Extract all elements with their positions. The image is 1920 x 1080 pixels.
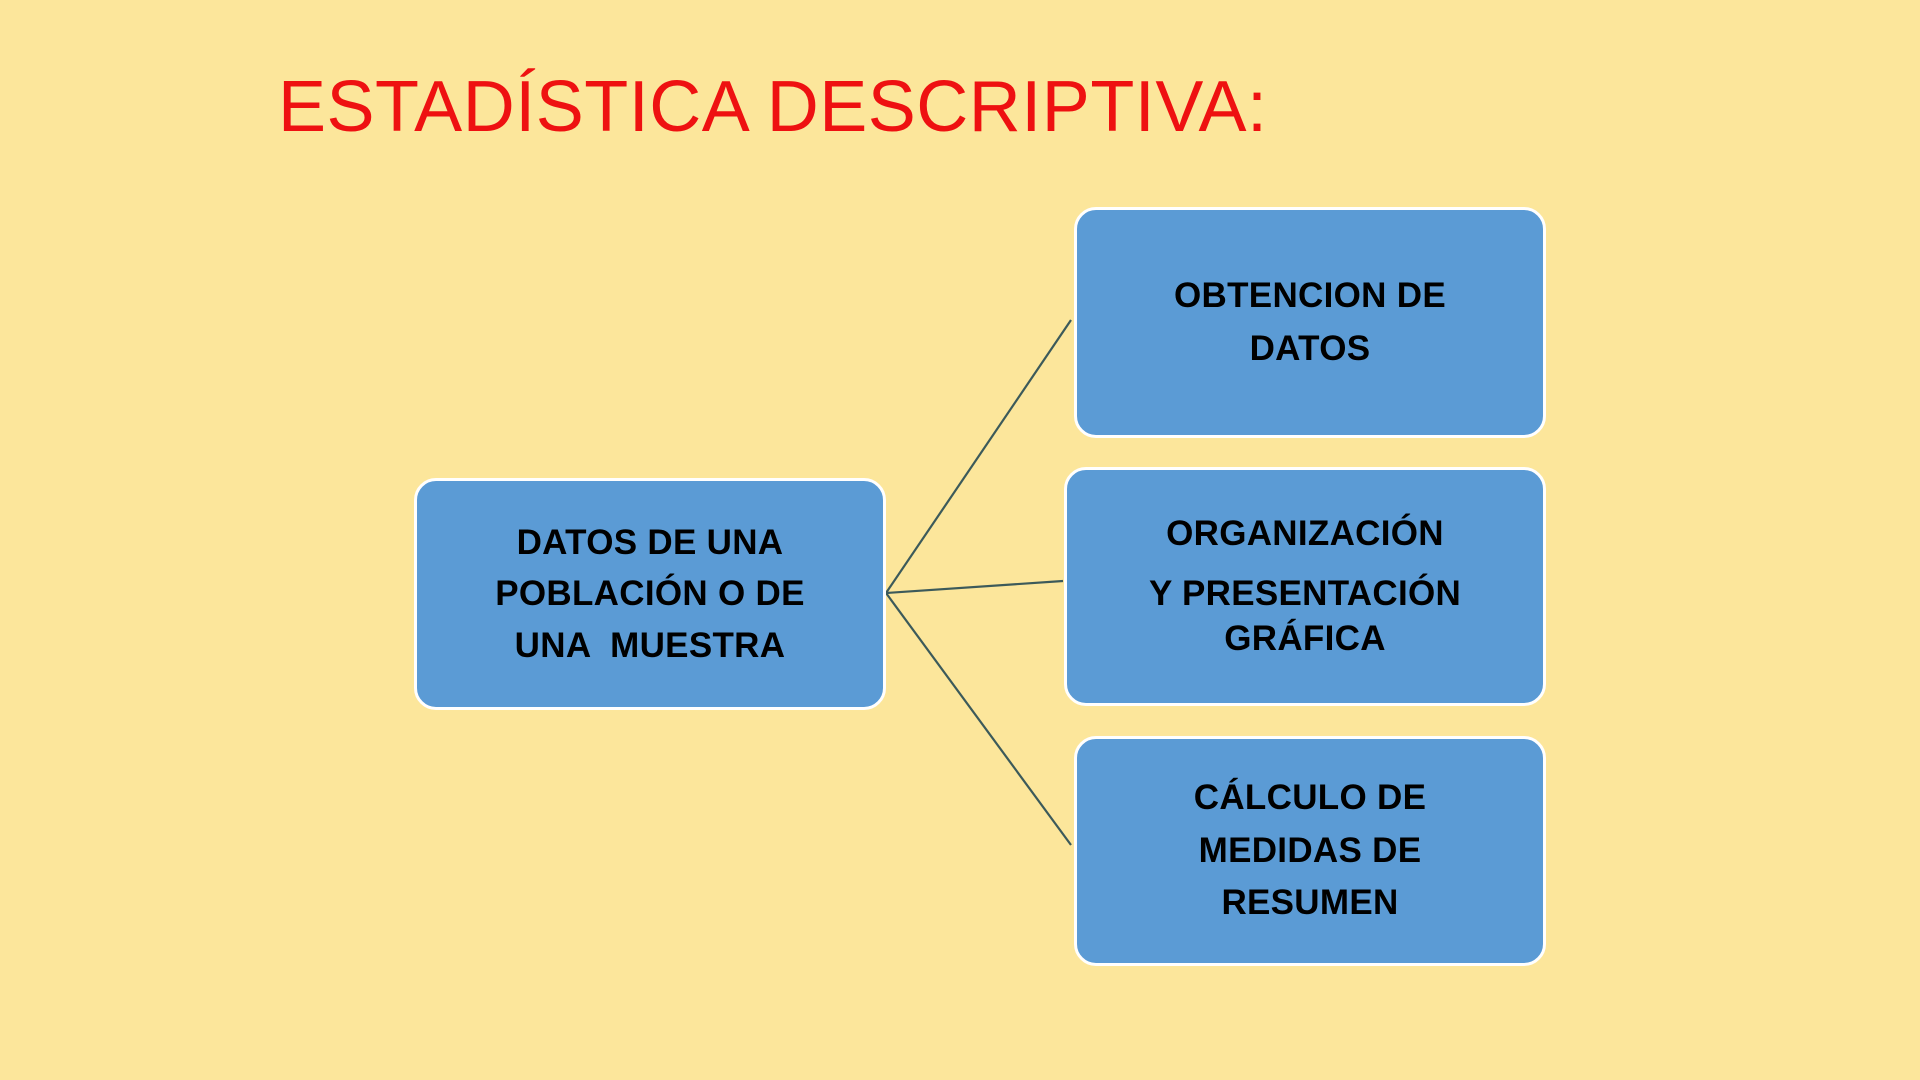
node-root-line-3: UNA MUESTRA bbox=[515, 620, 786, 671]
node-calculo-de-medidas-de-resumen[interactable]: CÁLCULO DE MEDIDAS DE RESUMEN bbox=[1074, 736, 1546, 966]
node-calculo-line-3: RESUMEN bbox=[1221, 877, 1398, 930]
node-root-line-1: DATOS DE UNA bbox=[517, 517, 784, 568]
node-calculo-line-2: MEDIDAS DE bbox=[1199, 825, 1422, 878]
page-title: ESTADÍSTICA DESCRIPTIVA: bbox=[278, 62, 1268, 152]
node-datos-de-una-poblacion-o-de-una-muestra[interactable]: DATOS DE UNA POBLACIÓN O DE UNA MUESTRA bbox=[414, 478, 886, 710]
connector-line-to-organizacion bbox=[886, 581, 1063, 593]
node-obtencion-de-datos[interactable]: OBTENCION DE DATOS bbox=[1074, 207, 1546, 438]
connector-line-to-obtencion bbox=[886, 320, 1071, 593]
node-calculo-line-1: CÁLCULO DE bbox=[1194, 772, 1426, 825]
connector-lines bbox=[0, 0, 1920, 1080]
slide-canvas: ESTADÍSTICA DESCRIPTIVA: DATOS DE UNA PO… bbox=[0, 0, 1920, 1080]
node-obtencion-line-1: OBTENCION DE bbox=[1174, 270, 1446, 323]
connector-line-to-calculo bbox=[886, 593, 1071, 845]
node-obtencion-line-2: DATOS bbox=[1250, 323, 1371, 376]
node-organizacion-y-presentacion-grafica[interactable]: ORGANIZACIÓN Y PRESENTACIÓN GRÁFICA bbox=[1064, 467, 1546, 706]
node-root-line-2: POBLACIÓN O DE bbox=[495, 568, 805, 619]
node-organizacion-line-2: Y PRESENTACIÓN bbox=[1149, 571, 1461, 617]
node-organizacion-line-3: GRÁFICA bbox=[1224, 616, 1386, 662]
node-organizacion-line-1: ORGANIZACIÓN bbox=[1166, 511, 1444, 557]
